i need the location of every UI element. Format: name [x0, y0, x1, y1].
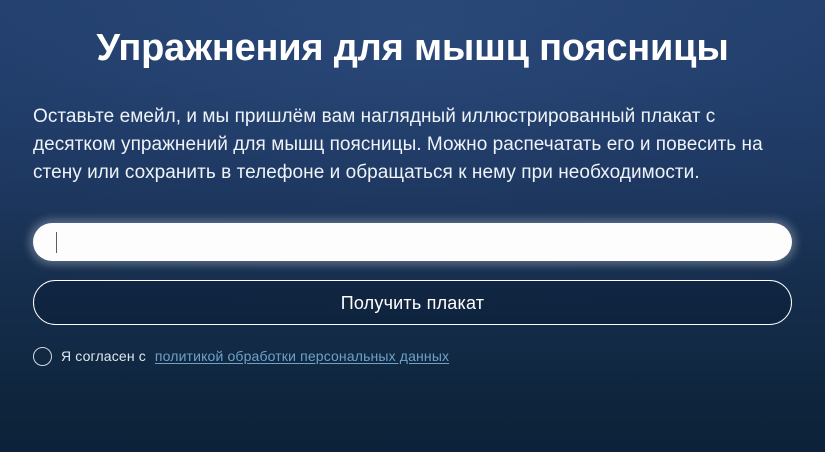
promo-description: Оставьте емейл, и мы пришлём вам наглядн…: [33, 72, 792, 187]
consent-checkbox[interactable]: [33, 347, 52, 366]
promo-content: Упражнения для мышц поясницы Оставьте ем…: [0, 0, 825, 366]
privacy-policy-link[interactable]: политикой обработки персональных данных: [155, 347, 449, 366]
email-subscribe-promo: Упражнения для мышц поясницы Оставьте ем…: [0, 0, 825, 452]
get-poster-button[interactable]: Получить плакат: [33, 280, 792, 325]
consent-label: Я согласен с: [61, 347, 146, 366]
email-field-wrapper: [33, 223, 792, 261]
consent-row: Я согласен с политикой обработки персона…: [33, 347, 792, 366]
email-input[interactable]: [33, 223, 792, 261]
page-title: Упражнения для мышц поясницы: [33, 0, 792, 72]
